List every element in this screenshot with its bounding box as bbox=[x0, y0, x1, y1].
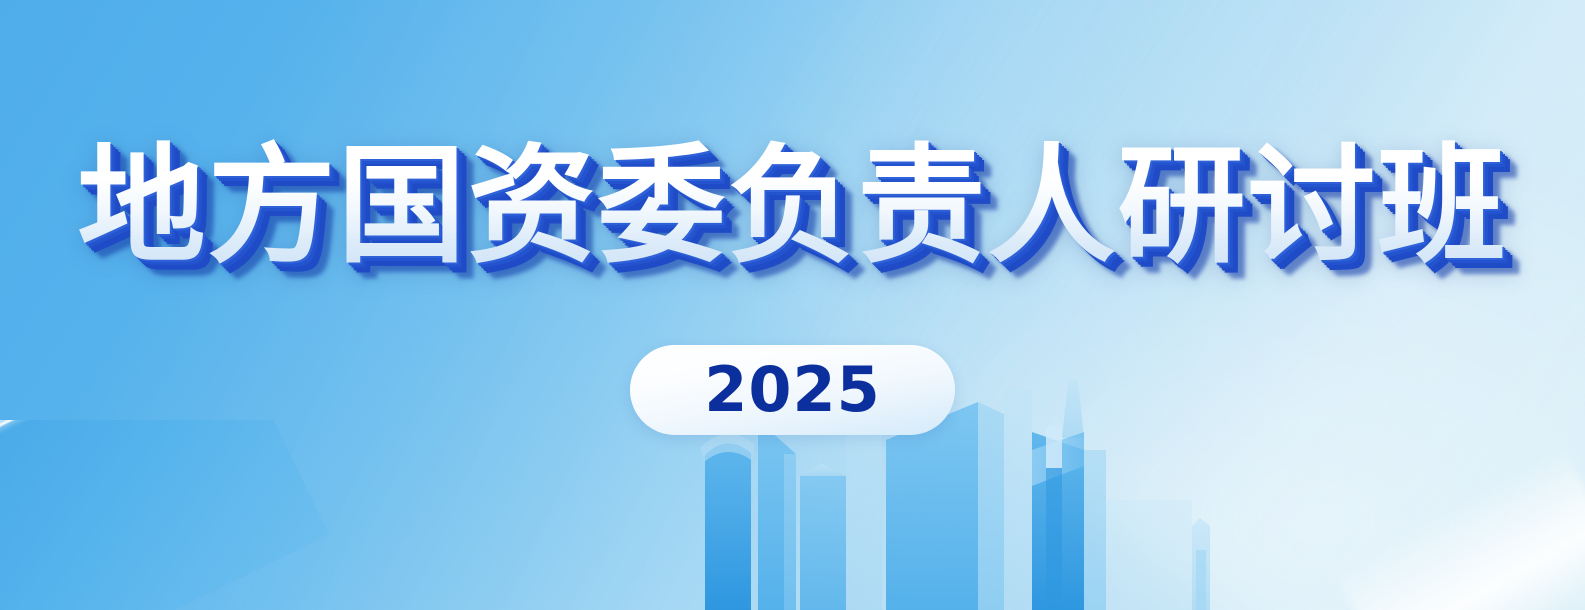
bottom-right-streak bbox=[1335, 445, 1585, 610]
ribbon-blue-wedge bbox=[0, 420, 329, 610]
year-badge: 2025 bbox=[630, 345, 955, 435]
year-badge-area: 2025 bbox=[0, 345, 1585, 435]
banner-title-area: 地方国资委负责人研讨班 bbox=[0, 138, 1585, 276]
event-banner: 地方国资委负责人研讨班 2025 bbox=[0, 0, 1585, 610]
bottom-left-ribbon bbox=[0, 420, 330, 610]
banner-title: 地方国资委负责人研讨班 bbox=[77, 138, 1507, 276]
top-right-light-sweep bbox=[674, 0, 1585, 610]
year-badge-label: 2025 bbox=[704, 359, 881, 421]
center-light-sweep bbox=[48, 0, 1442, 610]
